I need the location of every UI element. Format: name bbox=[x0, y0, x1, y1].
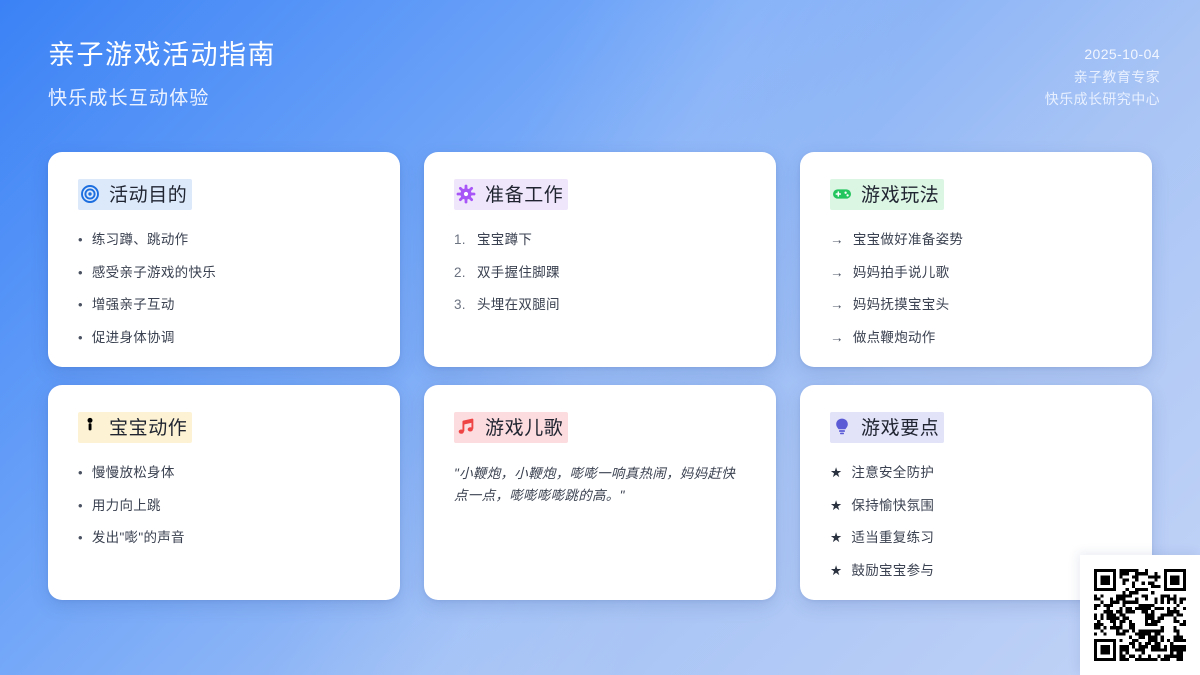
header-org: 快乐成长研究中心 bbox=[1045, 88, 1160, 111]
header-author: 亲子教育专家 bbox=[1045, 66, 1160, 89]
list-item-text: 促进身体协调 bbox=[92, 328, 175, 348]
list-item-text: 宝宝蹲下 bbox=[477, 230, 532, 250]
list-marker-bullet: • bbox=[78, 295, 83, 315]
card-准备工作: 准备工作1.宝宝蹲下2.双手握住脚踝3.头埋在双腿间 bbox=[424, 152, 776, 367]
list-marker-number: 3. bbox=[454, 295, 468, 315]
list-marker-bullet: • bbox=[78, 528, 83, 548]
list-item: ★适当重复练习 bbox=[830, 528, 1122, 548]
card-list: •慢慢放松身体•用力向上跳•发出"嘭"的声音 bbox=[78, 463, 370, 548]
lightbulb-icon bbox=[832, 417, 852, 437]
card-title: 游戏要点 bbox=[861, 413, 939, 440]
card-list: →宝宝做好准备姿势→妈妈拍手说儿歌→妈妈抚摸宝宝头→做点鞭炮动作 bbox=[830, 230, 1122, 347]
list-item-text: 用力向上跳 bbox=[92, 496, 161, 516]
list-item: 1.宝宝蹲下 bbox=[454, 230, 746, 250]
card-title: 宝宝动作 bbox=[109, 413, 187, 440]
list-marker-number: 1. bbox=[454, 230, 468, 250]
list-item-text: 慢慢放松身体 bbox=[92, 463, 175, 483]
card-list: 1.宝宝蹲下2.双手握住脚踝3.头埋在双腿间 bbox=[454, 230, 746, 315]
list-item-text: 发出"嘭"的声音 bbox=[92, 528, 185, 548]
list-item-text: 练习蹲、跳动作 bbox=[92, 230, 189, 250]
list-marker-arrow: → bbox=[830, 328, 844, 348]
list-item: 3.头埋在双腿间 bbox=[454, 295, 746, 315]
card-list: •练习蹲、跳动作•感受亲子游戏的快乐•增强亲子互动•促进身体协调 bbox=[78, 230, 370, 347]
list-marker-star: ★ bbox=[830, 463, 842, 483]
list-marker-arrow: → bbox=[830, 263, 844, 283]
card-宝宝动作: 宝宝动作•慢慢放松身体•用力向上跳•发出"嘭"的声音 bbox=[48, 385, 400, 600]
list-item: →妈妈拍手说儿歌 bbox=[830, 263, 1122, 283]
list-marker-bullet: • bbox=[78, 263, 83, 283]
list-marker-star: ★ bbox=[830, 528, 842, 548]
list-item-text: 头埋在双腿间 bbox=[477, 295, 560, 315]
card-title-highlight: 游戏儿歌 bbox=[454, 412, 568, 443]
list-item-text: 双手握住脚踝 bbox=[477, 263, 560, 283]
target-icon bbox=[80, 184, 100, 204]
list-marker-number: 2. bbox=[454, 263, 468, 283]
card-header: 宝宝动作 bbox=[78, 412, 370, 443]
card-grid: 活动目的•练习蹲、跳动作•感受亲子游戏的快乐•增强亲子互动•促进身体协调 准备工… bbox=[48, 152, 1152, 600]
card-header: 游戏要点 bbox=[830, 412, 1122, 443]
list-marker-star: ★ bbox=[830, 496, 842, 516]
list-item: →宝宝做好准备姿势 bbox=[830, 230, 1122, 250]
list-item-text: 感受亲子游戏的快乐 bbox=[92, 263, 216, 283]
song-quote: "小鞭炮，小鞭炮，嘭嘭一响真热闹，妈妈赶快点一点，嘭嘭嘭嘭跳的高。" bbox=[454, 463, 746, 507]
page-header: 亲子游戏活动指南 快乐成长互动体验 2025-10-04 亲子教育专家 快乐成长… bbox=[48, 38, 1160, 138]
list-marker-arrow: → bbox=[830, 230, 844, 250]
list-item-text: 宝宝做好准备姿势 bbox=[853, 230, 963, 250]
list-item: ★鼓励宝宝参与 bbox=[830, 561, 1122, 581]
card-header: 游戏儿歌 bbox=[454, 412, 746, 443]
card-title: 活动目的 bbox=[109, 180, 187, 207]
card-header: 游戏玩法 bbox=[830, 179, 1122, 210]
card-title-highlight: 宝宝动作 bbox=[78, 412, 192, 443]
list-marker-bullet: • bbox=[78, 230, 83, 250]
list-item: •增强亲子互动 bbox=[78, 295, 370, 315]
card-title-highlight: 活动目的 bbox=[78, 179, 192, 210]
card-title: 游戏玩法 bbox=[861, 180, 939, 207]
list-item: •用力向上跳 bbox=[78, 496, 370, 516]
list-item-text: 注意安全防护 bbox=[851, 463, 934, 483]
list-item: ★注意安全防护 bbox=[830, 463, 1122, 483]
list-item: •慢慢放松身体 bbox=[78, 463, 370, 483]
page-title: 亲子游戏活动指南 bbox=[48, 38, 276, 73]
qr-panel bbox=[1080, 555, 1200, 675]
gear-icon bbox=[456, 184, 476, 204]
card-header: 活动目的 bbox=[78, 179, 370, 210]
card-title-highlight: 游戏玩法 bbox=[830, 179, 944, 210]
card-title: 准备工作 bbox=[485, 180, 563, 207]
list-marker-arrow: → bbox=[830, 295, 844, 315]
list-marker-bullet: • bbox=[78, 328, 83, 348]
list-item: →妈妈抚摸宝宝头 bbox=[830, 295, 1122, 315]
list-marker-star: ★ bbox=[830, 561, 842, 581]
card-游戏儿歌: 游戏儿歌"小鞭炮，小鞭炮，嘭嘭一响真热闹，妈妈赶快点一点，嘭嘭嘭嘭跳的高。" bbox=[424, 385, 776, 600]
list-item: •发出"嘭"的声音 bbox=[78, 528, 370, 548]
card-title-highlight: 游戏要点 bbox=[830, 412, 944, 443]
list-item: →做点鞭炮动作 bbox=[830, 328, 1122, 348]
list-item: ★保持愉快氛围 bbox=[830, 496, 1122, 516]
card-游戏玩法: 游戏玩法→宝宝做好准备姿势→妈妈拍手说儿歌→妈妈抚摸宝宝头→做点鞭炮动作 bbox=[800, 152, 1152, 367]
page-subtitle: 快乐成长互动体验 bbox=[48, 83, 276, 110]
list-item: •感受亲子游戏的快乐 bbox=[78, 263, 370, 283]
card-header: 准备工作 bbox=[454, 179, 746, 210]
qr-code bbox=[1094, 569, 1186, 661]
gamepad-icon bbox=[832, 184, 852, 204]
list-item-text: 鼓励宝宝参与 bbox=[851, 561, 934, 581]
list-item-text: 增强亲子互动 bbox=[92, 295, 175, 315]
list-item-text: 保持愉快氛围 bbox=[851, 496, 934, 516]
list-item: 2.双手握住脚踝 bbox=[454, 263, 746, 283]
card-title: 游戏儿歌 bbox=[485, 413, 563, 440]
header-left: 亲子游戏活动指南 快乐成长互动体验 bbox=[48, 38, 276, 110]
header-date: 2025-10-04 bbox=[1045, 43, 1160, 66]
list-marker-bullet: • bbox=[78, 496, 83, 516]
list-item-text: 妈妈拍手说儿歌 bbox=[853, 263, 950, 283]
list-item-text: 适当重复练习 bbox=[851, 528, 934, 548]
header-meta: 2025-10-04 亲子教育专家 快乐成长研究中心 bbox=[1045, 43, 1160, 111]
list-marker-bullet: • bbox=[78, 463, 83, 483]
list-item: •促进身体协调 bbox=[78, 328, 370, 348]
list-item-text: 做点鞭炮动作 bbox=[853, 328, 936, 348]
person-icon bbox=[80, 417, 100, 437]
list-item-text: 妈妈抚摸宝宝头 bbox=[853, 295, 950, 315]
card-list: ★注意安全防护★保持愉快氛围★适当重复练习★鼓励宝宝参与 bbox=[830, 463, 1122, 580]
list-item: •练习蹲、跳动作 bbox=[78, 230, 370, 250]
card-title-highlight: 准备工作 bbox=[454, 179, 568, 210]
music-note-icon bbox=[456, 417, 476, 437]
card-活动目的: 活动目的•练习蹲、跳动作•感受亲子游戏的快乐•增强亲子互动•促进身体协调 bbox=[48, 152, 400, 367]
